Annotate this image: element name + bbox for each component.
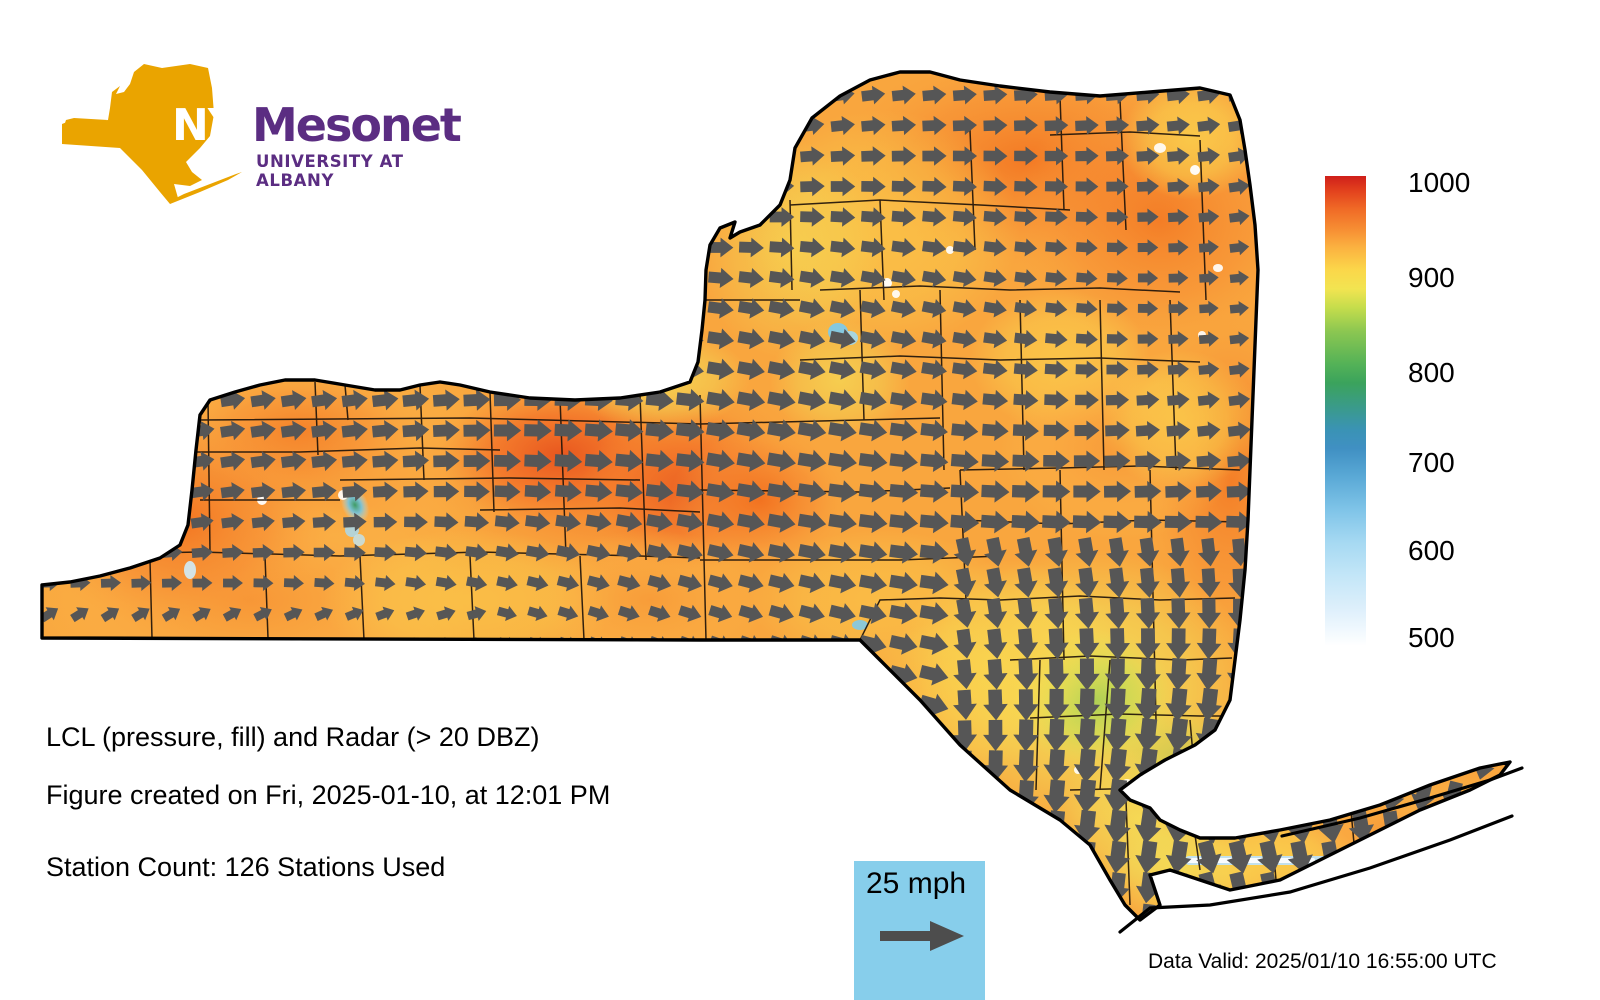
wind-arrow	[1472, 207, 1495, 228]
wind-arrow	[1473, 422, 1494, 440]
wind-arrow	[1290, 238, 1311, 256]
wind-arrow	[342, 297, 369, 320]
wind-arrow	[161, 665, 183, 685]
wind-arrow	[101, 909, 122, 927]
figure-title-caption: LCL (pressure, fill) and Radar (> 20 DBZ…	[46, 722, 539, 753]
wind-arrow	[738, 84, 764, 107]
wind-arrow	[69, 330, 92, 349]
wind-arrow	[1380, 482, 1403, 501]
wind-arrow	[99, 512, 123, 533]
wind-arrow	[1346, 748, 1378, 784]
wind-arrow	[343, 908, 366, 930]
wind-arrow	[407, 758, 425, 773]
wind-arrow	[1470, 510, 1496, 533]
wind-arrow	[1319, 145, 1344, 166]
wind-arrow	[1380, 600, 1403, 628]
wind-arrow	[738, 145, 764, 167]
wind-arrow	[1412, 391, 1434, 410]
wind-arrow	[1502, 660, 1526, 688]
wind-arrow	[1286, 687, 1316, 722]
wind-arrow	[677, 84, 703, 107]
wind-arrow	[647, 693, 672, 716]
wind-arrow	[587, 694, 611, 716]
wind-arrow	[1443, 570, 1464, 595]
wind-arrow	[68, 420, 93, 441]
wind-arrow	[220, 328, 246, 351]
wind-arrow	[1381, 360, 1402, 378]
wind-arrow	[1502, 631, 1525, 658]
wind-arrow	[1193, 777, 1226, 815]
wind-arrow	[647, 145, 673, 168]
wind-arrow	[1381, 238, 1403, 257]
wind-arrow	[38, 390, 62, 409]
wind-arrow	[708, 145, 734, 167]
wind-arrow	[1504, 330, 1525, 347]
wind-arrow	[647, 114, 673, 137]
wind-arrow	[1473, 571, 1493, 596]
wind-arrow	[1409, 511, 1435, 534]
wind-arrow	[647, 268, 672, 288]
wind-arrow	[250, 327, 277, 350]
wind-arrow	[1473, 453, 1494, 470]
wind-arrow	[1253, 777, 1286, 816]
wind-arrow	[1289, 539, 1312, 567]
logo-wordmark: NYS Mesonet UNIVERSITY AT ALBANY	[172, 94, 452, 204]
wind-arrow	[1258, 390, 1281, 409]
wind-arrow	[983, 811, 1009, 843]
wind-arrow	[129, 450, 155, 472]
wind-arrow	[99, 481, 124, 502]
wind-arrow	[464, 206, 490, 229]
wind-arrow	[100, 299, 122, 317]
wind-arrow	[616, 814, 642, 839]
wind-arrow	[1260, 300, 1280, 317]
wind-arrow	[1256, 902, 1284, 935]
wind-arrow	[527, 664, 549, 684]
wind-arrow	[617, 237, 643, 258]
wind-arrow	[1439, 719, 1468, 752]
wind-arrow	[677, 145, 703, 168]
wind-arrow	[497, 695, 519, 715]
wind-arrow	[375, 818, 396, 836]
wind-arrow	[281, 297, 307, 319]
wind-arrow	[1348, 658, 1375, 690]
wind-arrow	[193, 758, 213, 775]
wind-arrow	[39, 543, 61, 561]
wind-arrow	[221, 268, 245, 289]
wind-arrow	[525, 267, 551, 289]
wind-arrow	[585, 358, 613, 381]
wind-arrow	[797, 782, 829, 812]
wind-arrow	[827, 691, 858, 719]
wind-arrow	[314, 818, 334, 835]
wind-arrow	[192, 665, 213, 684]
wind-arrow	[464, 145, 489, 167]
wind-arrow	[1377, 718, 1407, 753]
wind-arrow	[161, 909, 183, 929]
wind-arrow	[647, 175, 673, 197]
wind-arrow	[316, 759, 334, 774]
wind-arrow	[1470, 690, 1496, 720]
nys-mesonet-logo: NYS Mesonet UNIVERSITY AT ALBANY	[50, 52, 395, 212]
wind-arrow	[1286, 658, 1314, 691]
wind-arrow	[1317, 658, 1345, 691]
wind-arrow	[1379, 511, 1405, 533]
wind-arrow	[887, 720, 921, 751]
wind-arrow	[70, 239, 91, 256]
wind-arrow	[100, 695, 122, 715]
wind-arrow	[220, 298, 245, 319]
wind-arrow	[556, 906, 581, 931]
wind-arrow	[526, 755, 550, 777]
wind-arrow	[556, 755, 580, 778]
wind-arrow	[1382, 330, 1403, 348]
wind-arrow	[404, 907, 427, 929]
wind-arrow	[494, 267, 521, 290]
wind-arrow	[1501, 114, 1526, 137]
wind-arrow	[555, 359, 582, 381]
wind-arrow	[677, 783, 704, 809]
wind-arrow	[495, 876, 519, 900]
wind-arrow	[1259, 239, 1280, 257]
wind-arrow	[1442, 421, 1464, 439]
wind-arrow	[767, 722, 797, 749]
wind-arrow	[1287, 902, 1315, 934]
wind-arrow	[130, 543, 153, 562]
wind-arrow	[1440, 510, 1466, 533]
wind-arrow	[985, 905, 1006, 932]
wind-arrow	[1503, 601, 1525, 627]
wind-arrow	[1473, 269, 1494, 287]
wind-arrow	[280, 327, 307, 351]
wind-arrow	[495, 175, 521, 198]
wind-arrow	[465, 84, 490, 106]
wind-arrow	[1075, 904, 1099, 933]
wind-arrow	[221, 237, 244, 257]
wind-arrow	[1471, 176, 1495, 198]
colorbar-tick-1000: 1000	[1408, 167, 1470, 199]
wind-arrow	[586, 845, 611, 870]
wind-arrow	[1471, 873, 1495, 902]
wind-arrow	[191, 908, 213, 928]
wind-arrow	[345, 818, 366, 836]
lcl-pressure-colorbar	[1325, 176, 1366, 646]
wind-arrow	[434, 206, 460, 229]
wind-arrow	[346, 697, 365, 714]
wind-arrow	[737, 752, 766, 779]
wind-arrow	[1260, 269, 1280, 286]
wind-arrow	[616, 114, 642, 137]
wind-arrow	[38, 421, 62, 441]
colorbar-tick-700: 700	[1408, 447, 1455, 479]
wind-arrow	[371, 357, 400, 381]
wind-arrow	[1013, 842, 1039, 874]
wind-arrow	[586, 206, 612, 228]
wind-arrow	[1381, 452, 1404, 471]
wind-arrow	[887, 750, 922, 782]
wind-arrow	[1289, 390, 1312, 409]
wind-arrow	[916, 750, 952, 783]
wind-arrow	[953, 812, 977, 842]
wind-arrow	[798, 661, 828, 688]
wind-arrow	[586, 145, 612, 168]
wind-arrow	[1379, 629, 1404, 659]
wind-arrow	[1260, 330, 1281, 347]
wind-arrow	[647, 663, 672, 686]
wind-arrow	[254, 819, 273, 835]
wind-arrow	[1254, 747, 1287, 785]
wind-arrow	[1502, 145, 1527, 167]
wind-arrow	[132, 819, 151, 835]
wind-arrow	[1502, 874, 1525, 902]
wind-arrow	[677, 175, 703, 197]
wind-arrow	[1500, 780, 1529, 813]
logo-mesonet-text: Mesonet	[252, 98, 460, 152]
wind-arrow	[193, 820, 211, 834]
wind-arrow	[1045, 904, 1069, 933]
wind-arrow	[1410, 114, 1435, 137]
wind-arrow	[556, 298, 582, 319]
wind-arrow	[1284, 777, 1317, 815]
wind-arrow	[251, 267, 276, 288]
wind-arrow	[1440, 660, 1466, 690]
wind-arrow	[555, 267, 581, 289]
wind-arrow	[1380, 145, 1405, 167]
wind-arrow	[1440, 842, 1466, 874]
wind-arrow	[647, 784, 674, 810]
wind-arrow	[953, 781, 978, 812]
wind-arrow	[557, 724, 581, 746]
wind-arrow	[587, 724, 611, 747]
colorbar-tick-600: 600	[1408, 535, 1455, 567]
wind-arrow	[160, 268, 183, 287]
wind-arrow	[527, 695, 549, 716]
wind-arrow	[1225, 902, 1254, 935]
wind-arrow	[767, 812, 797, 841]
wind-arrow	[1473, 300, 1494, 318]
wind-arrow	[1257, 511, 1284, 533]
wind-arrow	[707, 813, 735, 840]
wind-arrow	[617, 84, 643, 107]
wind-arrow	[70, 910, 90, 927]
wind-arrow	[40, 239, 60, 255]
wind-arrow	[555, 328, 581, 349]
wind-arrow	[1473, 361, 1494, 379]
wind-arrow	[1015, 905, 1038, 933]
wind-arrow	[311, 327, 338, 351]
wind-arrow	[192, 696, 213, 715]
wind-arrow	[466, 847, 489, 868]
wind-arrow	[616, 145, 642, 168]
wind-arrow	[1378, 688, 1407, 721]
wind-arrow	[1503, 905, 1525, 932]
wind-arrow	[467, 666, 486, 682]
wind-arrow	[1290, 330, 1311, 348]
wind-arrow	[437, 666, 456, 682]
wind-arrow	[189, 358, 216, 381]
wind-arrow	[707, 692, 734, 717]
wind-arrow	[555, 145, 581, 168]
wind-arrow	[1382, 540, 1402, 565]
wind-arrow	[253, 696, 273, 714]
wind-arrow	[768, 905, 796, 932]
wind-arrow	[615, 358, 644, 382]
wind-arrow	[1412, 238, 1434, 257]
wind-arrow	[737, 874, 765, 902]
colorbar-tick-800: 800	[1408, 357, 1455, 389]
wind-arrow	[677, 753, 704, 779]
wind-arrow	[1503, 269, 1524, 287]
wind-arrow	[433, 267, 460, 290]
wind-arrow	[799, 84, 825, 106]
wind-arrow	[827, 721, 859, 750]
wind-arrow	[556, 876, 581, 901]
wind-speed-reference-key: 25 mph	[854, 861, 985, 1000]
wind-arrow	[916, 810, 952, 844]
wind-arrow	[284, 665, 304, 683]
wind-arrow	[100, 664, 122, 684]
wind-arrow	[130, 269, 152, 288]
wind-arrow	[1473, 391, 1494, 409]
wind-arrow	[617, 754, 642, 778]
wind-arrow	[647, 237, 672, 258]
wind-arrow	[708, 84, 734, 107]
wind-arrow	[159, 358, 185, 380]
wind-arrow	[163, 819, 182, 834]
wind-key-label: 25 mph	[866, 867, 966, 901]
wind-arrow	[1408, 719, 1437, 753]
wind-arrow	[463, 358, 491, 381]
wind-arrow	[707, 662, 734, 687]
wind-arrow	[494, 297, 521, 319]
wind-arrow	[1348, 872, 1376, 905]
wind-arrow	[1349, 145, 1374, 167]
wind-arrow	[1287, 628, 1313, 659]
wind-arrow	[464, 236, 490, 259]
wind-arrow	[285, 758, 303, 773]
wind-arrow	[1257, 451, 1282, 472]
wind-arrow	[1318, 903, 1345, 934]
wind-arrow	[1347, 688, 1376, 722]
wind-arrow	[405, 818, 426, 837]
wind-arrow	[586, 875, 611, 900]
wind-arrow	[827, 751, 860, 781]
wind-arrow	[1288, 451, 1313, 471]
wind-arrow	[677, 114, 703, 137]
wind-arrow	[1382, 269, 1403, 287]
wind-arrow	[525, 84, 550, 107]
wind-arrow	[1288, 481, 1313, 501]
wind-arrow	[738, 114, 764, 136]
wind-arrow	[160, 512, 185, 533]
wind-arrow	[314, 666, 334, 684]
wind-arrow	[1442, 238, 1464, 257]
wind-arrow	[403, 297, 430, 320]
wind-arrow	[38, 481, 62, 501]
wind-arrow	[159, 389, 185, 411]
wind-arrow	[1381, 570, 1402, 596]
wind-arrow	[1380, 176, 1404, 197]
wind-arrow	[767, 782, 798, 811]
wind-arrow	[40, 910, 60, 927]
wind-arrow	[555, 206, 581, 229]
wind-arrow	[466, 817, 488, 836]
wind-arrow	[857, 811, 891, 843]
wind-arrow	[71, 819, 91, 836]
wind-arrow	[39, 757, 60, 776]
wind-arrow	[647, 814, 674, 840]
wind-arrow	[191, 268, 215, 288]
wind-arrow	[769, 114, 795, 136]
wind-arrow	[677, 297, 705, 320]
wind-arrow	[1505, 541, 1523, 564]
wind-arrow	[1012, 810, 1039, 843]
wind-arrow	[346, 759, 363, 773]
wind-arrow	[1471, 842, 1496, 872]
wind-arrow	[647, 875, 673, 901]
wind-arrow	[1315, 778, 1348, 816]
wind-arrow	[617, 724, 642, 747]
wind-arrow	[524, 359, 551, 381]
wind-arrow	[161, 238, 183, 257]
wind-arrow	[435, 907, 459, 929]
wind-arrow	[677, 663, 703, 687]
wind-arrow	[465, 877, 488, 899]
wind-arrow	[677, 844, 704, 871]
wind-arrow	[616, 175, 642, 198]
wind-arrow	[1258, 84, 1283, 105]
wind-arrow	[161, 696, 182, 715]
wind-arrow	[1257, 628, 1283, 660]
wind-arrow	[587, 906, 612, 931]
wind-arrow	[310, 357, 338, 382]
wind-arrow	[129, 389, 155, 410]
wind-arrow	[1502, 207, 1525, 228]
wind-arrow	[1502, 843, 1526, 872]
wind-arrow	[312, 237, 337, 259]
wind-arrow	[159, 481, 185, 503]
wind-arrow	[797, 874, 827, 903]
wind-arrow	[403, 236, 429, 259]
wind-arrow	[1504, 361, 1525, 378]
wind-arrow	[315, 697, 334, 714]
wind-arrow	[250, 357, 278, 381]
wind-arrow	[738, 662, 766, 687]
wind-arrow	[984, 874, 1007, 903]
wind-arrow	[465, 907, 489, 929]
wind-arrow	[526, 845, 551, 869]
wind-arrow	[1258, 569, 1281, 598]
wind-arrow	[39, 330, 61, 348]
wind-arrow	[376, 697, 395, 713]
wind-arrow	[739, 176, 765, 197]
wind-arrow	[1346, 718, 1377, 753]
wind-arrow	[39, 664, 62, 685]
wind-arrow	[587, 754, 612, 778]
wind-arrow	[1258, 420, 1282, 440]
wind-arrow	[617, 268, 642, 288]
wind-arrow	[1443, 300, 1464, 318]
wind-arrow	[403, 206, 428, 228]
wind-arrow	[402, 327, 430, 351]
wind-arrow	[1349, 84, 1374, 106]
wind-arrow	[497, 665, 519, 685]
wind-arrow	[282, 237, 306, 258]
wind-arrow	[1409, 872, 1435, 903]
wind-arrow	[707, 875, 735, 902]
wind-arrow	[40, 270, 60, 286]
wind-arrow	[1504, 571, 1524, 595]
